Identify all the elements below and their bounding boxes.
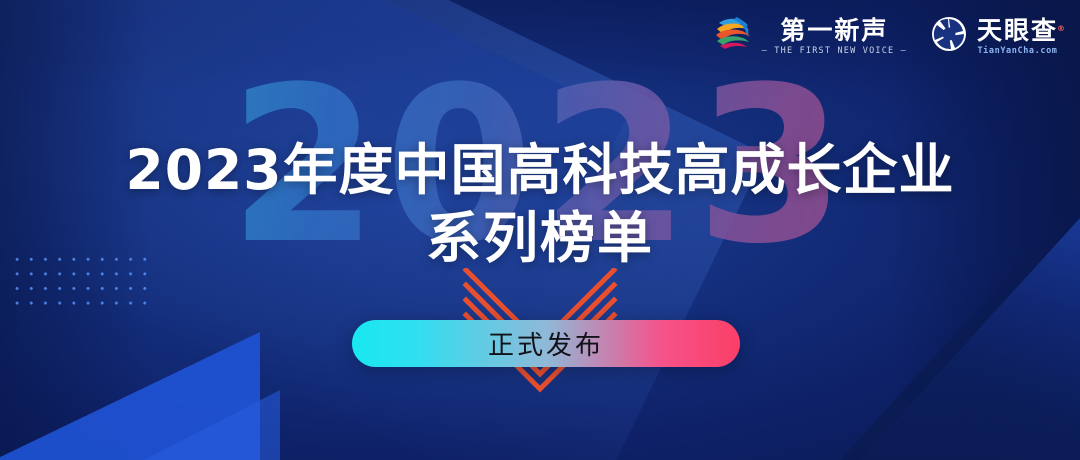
ribbon-swirl-logo-icon	[712, 14, 754, 59]
headline-line-2: 系列榜单	[0, 204, 1080, 272]
camera-shutter-eye-logo-icon	[929, 14, 969, 59]
release-status-label: 正式发布	[488, 325, 604, 362]
release-status-button[interactable]: 正式发布	[352, 320, 740, 367]
logo-tianyancha-name: 天眼查 ®	[977, 17, 1058, 45]
logo-diyixinsheng-tagline: — THE FIRST NEW VOICE —	[762, 45, 907, 57]
logo-tianyancha-name-text: 天眼查	[977, 16, 1058, 45]
logo-diyixinsheng-name: 第一新声	[780, 17, 888, 45]
page-title: 2023年度中国高科技高成长企业 系列榜单	[0, 136, 1080, 272]
bottom-left-secondary-triangle	[140, 390, 280, 460]
promo-banner: 2023 2023年度中国高科技高成长企业 系列榜单 正式发布	[0, 0, 1080, 460]
logo-bar: 第一新声 — THE FIRST NEW VOICE —	[712, 14, 1058, 59]
logo-diyixinsheng-text: 第一新声 — THE FIRST NEW VOICE —	[762, 17, 907, 57]
bottom-left-blue-triangle	[0, 332, 260, 460]
registered-trademark-icon: ®	[1057, 15, 1067, 43]
logo-tianyancha-tagline: TianYanCha.com	[977, 45, 1057, 57]
logo-tianyancha[interactable]: 天眼查 ® TianYanCha.com	[929, 14, 1058, 59]
headline-line-1: 2023年度中国高科技高成长企业	[0, 136, 1080, 204]
logo-diyixinsheng[interactable]: 第一新声 — THE FIRST NEW VOICE —	[712, 14, 907, 59]
logo-tianyancha-text: 天眼查 ® TianYanCha.com	[977, 17, 1058, 57]
